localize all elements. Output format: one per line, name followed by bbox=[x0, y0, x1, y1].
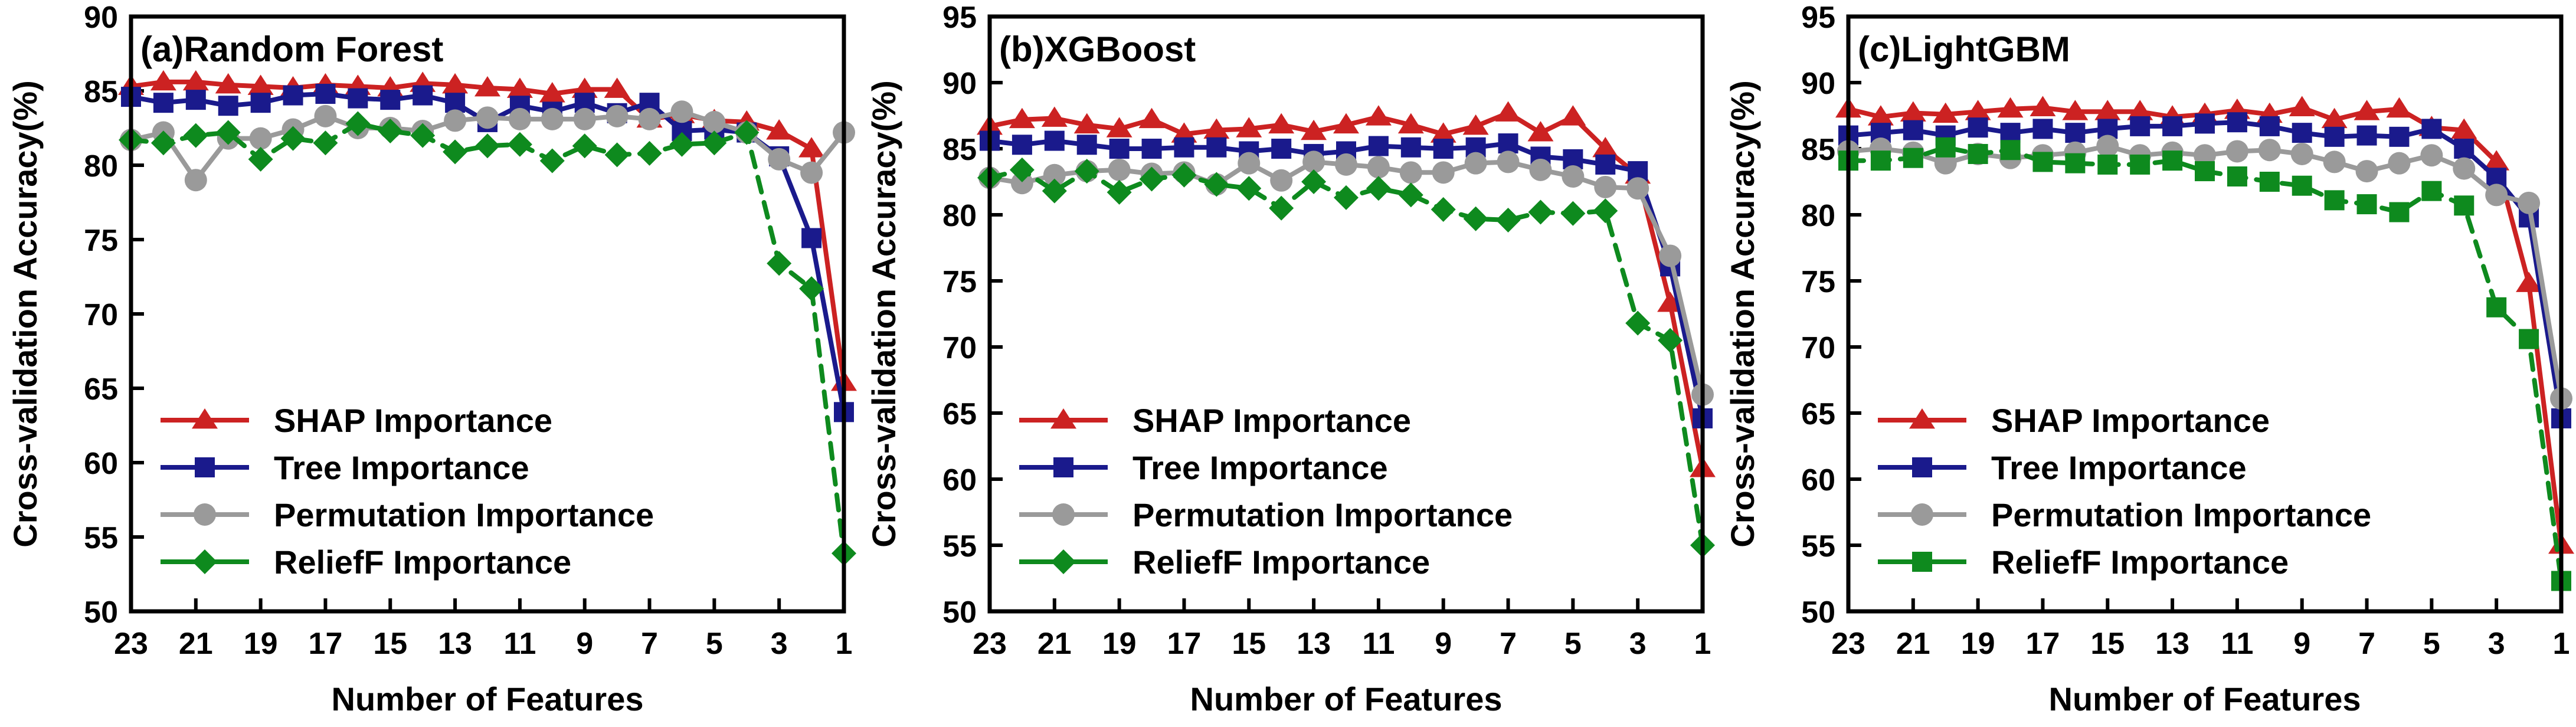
marker-square bbox=[2454, 139, 2474, 159]
x-tick-label: 7 bbox=[1500, 627, 1517, 661]
marker-square bbox=[2389, 127, 2409, 147]
marker-square bbox=[2357, 126, 2377, 146]
marker-circle bbox=[800, 162, 823, 184]
marker-square bbox=[1433, 139, 1454, 159]
marker-square bbox=[2227, 166, 2247, 186]
marker-square bbox=[153, 93, 174, 113]
marker-square bbox=[2130, 155, 2150, 175]
marker-square bbox=[1912, 552, 1932, 572]
marker-circle bbox=[1529, 159, 1552, 181]
marker-circle bbox=[1497, 150, 1520, 173]
marker-square bbox=[1271, 139, 1291, 159]
x-tick-label: 23 bbox=[1831, 627, 1865, 661]
y-tick-label: 50 bbox=[942, 595, 977, 630]
marker-circle bbox=[2291, 143, 2313, 165]
marker-square bbox=[2097, 155, 2117, 175]
y-tick-label: 95 bbox=[942, 1, 977, 35]
marker-circle bbox=[606, 105, 629, 127]
x-tick-label: 13 bbox=[438, 627, 472, 661]
y-tick-label: 70 bbox=[942, 331, 977, 365]
marker-circle bbox=[639, 108, 661, 130]
y-tick-label: 95 bbox=[1801, 1, 1835, 35]
marker-circle bbox=[1432, 161, 1455, 184]
marker-circle bbox=[185, 169, 207, 191]
panel-title: (b)XGBoost bbox=[999, 30, 1196, 69]
marker-circle bbox=[2420, 144, 2443, 166]
x-tick-label: 1 bbox=[2553, 627, 2570, 661]
y-axis-title: Cross-validation Accuracy(%) bbox=[865, 80, 902, 548]
x-tick-label: 19 bbox=[1961, 627, 1995, 661]
chart-panel-a: 5055606570758085902321191715131197531(a)… bbox=[0, 0, 859, 727]
marker-square bbox=[380, 90, 400, 110]
legend-label: Tree Importance bbox=[1991, 449, 2247, 486]
marker-square bbox=[2292, 176, 2312, 196]
y-tick-label: 65 bbox=[84, 372, 118, 407]
marker-circle bbox=[1562, 165, 1584, 188]
marker-square bbox=[2032, 152, 2053, 172]
marker-square bbox=[1142, 139, 1162, 159]
marker-square bbox=[2357, 194, 2377, 214]
x-tick-label: 21 bbox=[1037, 627, 1072, 661]
y-tick-label: 55 bbox=[84, 521, 118, 555]
x-tick-label: 9 bbox=[1435, 627, 1452, 661]
marker-square bbox=[2162, 116, 2182, 136]
marker-square bbox=[2130, 116, 2150, 136]
marker-square bbox=[413, 86, 433, 106]
y-tick-label: 90 bbox=[84, 1, 118, 35]
marker-square bbox=[1053, 457, 1073, 477]
marker-square bbox=[1012, 135, 1032, 155]
y-tick-label: 70 bbox=[84, 298, 118, 332]
marker-circle bbox=[1911, 503, 1933, 526]
marker-square bbox=[1968, 117, 1988, 137]
y-tick-label: 85 bbox=[942, 133, 977, 167]
legend-label: Permutation Importance bbox=[1991, 496, 2371, 533]
x-tick-label: 19 bbox=[244, 627, 278, 661]
x-tick-label: 11 bbox=[1362, 627, 1395, 661]
x-tick-label: 11 bbox=[503, 627, 536, 661]
marker-square bbox=[1871, 150, 1891, 171]
x-tick-label: 17 bbox=[1167, 627, 1202, 661]
legend-label: Permutation Importance bbox=[274, 496, 654, 533]
panel-title: (a)Random Forest bbox=[140, 30, 443, 69]
marker-circle bbox=[2226, 140, 2248, 162]
marker-square bbox=[2389, 202, 2409, 222]
marker-circle bbox=[250, 127, 272, 150]
marker-circle bbox=[2258, 139, 2281, 161]
marker-square bbox=[1903, 120, 1923, 140]
marker-circle bbox=[1270, 169, 1292, 192]
marker-square bbox=[1498, 133, 1518, 153]
marker-circle bbox=[1659, 244, 1681, 267]
marker-square bbox=[2421, 181, 2441, 201]
y-tick-label: 80 bbox=[1801, 199, 1835, 233]
marker-circle bbox=[2485, 184, 2508, 206]
y-tick-label: 80 bbox=[84, 149, 118, 184]
marker-square bbox=[2195, 161, 2215, 181]
legend-label: ReliefF Importance bbox=[274, 543, 571, 581]
marker-circle bbox=[1626, 177, 1649, 199]
x-axis-title: Number of Features bbox=[1190, 680, 1503, 718]
y-tick-label: 60 bbox=[84, 447, 118, 481]
marker-square bbox=[2065, 123, 2085, 143]
y-tick-label: 50 bbox=[1801, 595, 1835, 630]
y-tick-label: 65 bbox=[942, 397, 977, 431]
marker-square bbox=[1401, 137, 1421, 158]
y-tick-label: 90 bbox=[942, 67, 977, 101]
marker-square bbox=[1903, 148, 1923, 168]
marker-square bbox=[2065, 153, 2085, 173]
marker-square bbox=[283, 86, 303, 106]
panel-title: (c)LightGBM bbox=[1858, 30, 2070, 69]
marker-square bbox=[2325, 127, 2345, 147]
y-tick-label: 75 bbox=[84, 224, 118, 258]
marker-circle bbox=[1335, 153, 1357, 176]
marker-circle bbox=[194, 503, 216, 526]
x-tick-label: 15 bbox=[373, 627, 407, 661]
marker-square bbox=[251, 93, 271, 113]
x-tick-label: 3 bbox=[1629, 627, 1647, 661]
x-tick-label: 9 bbox=[2293, 627, 2310, 661]
x-tick-label: 7 bbox=[641, 627, 658, 661]
y-tick-label: 85 bbox=[1801, 133, 1835, 167]
y-tick-label: 75 bbox=[942, 265, 977, 299]
legend-label: ReliefF Importance bbox=[1991, 543, 2289, 581]
marker-square bbox=[2032, 119, 2053, 139]
x-tick-label: 17 bbox=[2026, 627, 2060, 661]
marker-square bbox=[1936, 137, 1956, 158]
marker-circle bbox=[703, 111, 725, 133]
marker-circle bbox=[2388, 152, 2410, 175]
legend-label: SHAP Importance bbox=[1991, 402, 2270, 439]
plot-svg: 505560657075808590952321191715131197531(… bbox=[859, 0, 1717, 727]
marker-square bbox=[315, 84, 335, 104]
x-tick-label: 5 bbox=[706, 627, 723, 661]
y-axis-title: Cross-validation Accuracy(%) bbox=[6, 80, 44, 548]
x-tick-label: 3 bbox=[2488, 627, 2505, 661]
plot-svg: 5055606570758085902321191715131197531(a)… bbox=[0, 0, 859, 727]
y-tick-label: 55 bbox=[1801, 529, 1835, 564]
x-tick-label: 3 bbox=[771, 627, 788, 661]
marker-square bbox=[801, 228, 821, 248]
y-tick-label: 65 bbox=[1801, 397, 1835, 431]
x-axis-title: Number of Features bbox=[2049, 680, 2361, 718]
marker-circle bbox=[2518, 192, 2540, 214]
marker-circle bbox=[1400, 161, 1422, 184]
y-axis-title: Cross-validation Accuracy(%) bbox=[1724, 80, 1761, 548]
legend-label: Tree Importance bbox=[1132, 449, 1388, 486]
marker-circle bbox=[509, 108, 531, 130]
marker-square bbox=[2162, 150, 2182, 171]
chart-panel-b: 505560657075808590952321191715131197531(… bbox=[859, 0, 1717, 727]
marker-circle bbox=[574, 108, 596, 130]
marker-circle bbox=[314, 105, 336, 127]
marker-square bbox=[1174, 137, 1194, 158]
x-tick-label: 9 bbox=[576, 627, 593, 661]
y-tick-label: 60 bbox=[942, 463, 977, 497]
marker-circle bbox=[444, 109, 466, 132]
marker-circle bbox=[541, 108, 564, 130]
x-tick-label: 19 bbox=[1102, 627, 1137, 661]
marker-circle bbox=[2096, 135, 2119, 158]
legend-label: SHAP Importance bbox=[1132, 402, 1411, 439]
x-tick-label: 23 bbox=[973, 627, 1007, 661]
chart-panel-c: 505560657075808590952321191715131197531(… bbox=[1717, 0, 2576, 727]
marker-square bbox=[2260, 172, 2280, 192]
marker-circle bbox=[2356, 160, 2378, 182]
marker-square bbox=[186, 90, 206, 110]
marker-circle bbox=[1594, 176, 1616, 198]
x-tick-label: 5 bbox=[2423, 627, 2440, 661]
marker-circle bbox=[1367, 156, 1390, 178]
x-tick-label: 7 bbox=[2358, 627, 2375, 661]
marker-circle bbox=[1052, 503, 1075, 526]
marker-square bbox=[2486, 297, 2506, 317]
x-tick-label: 21 bbox=[1896, 627, 1930, 661]
y-tick-label: 75 bbox=[1801, 265, 1835, 299]
x-tick-label: 23 bbox=[114, 627, 148, 661]
x-tick-label: 17 bbox=[309, 627, 343, 661]
x-tick-label: 15 bbox=[1232, 627, 1266, 661]
x-tick-label: 5 bbox=[1564, 627, 1582, 661]
plot-svg: 505560657075808590952321191715131197531(… bbox=[1717, 0, 2576, 727]
marker-square bbox=[2227, 112, 2247, 132]
y-tick-label: 50 bbox=[84, 595, 118, 630]
marker-square bbox=[1968, 144, 1988, 164]
marker-circle bbox=[1108, 159, 1131, 181]
x-tick-label: 1 bbox=[1694, 627, 1711, 661]
marker-square bbox=[2260, 116, 2280, 136]
x-tick-label: 15 bbox=[2090, 627, 2125, 661]
marker-square bbox=[1109, 139, 1130, 159]
marker-square bbox=[2195, 113, 2215, 133]
marker-square bbox=[348, 89, 368, 109]
marker-square bbox=[1077, 135, 1097, 155]
y-tick-label: 60 bbox=[1801, 463, 1835, 497]
x-tick-label: 1 bbox=[836, 627, 853, 661]
marker-circle bbox=[476, 106, 499, 129]
x-axis-title: Number of Features bbox=[332, 680, 644, 718]
legend-label: SHAP Importance bbox=[274, 402, 552, 439]
y-tick-label: 80 bbox=[942, 199, 977, 233]
y-tick-label: 85 bbox=[84, 75, 118, 109]
x-tick-label: 11 bbox=[2221, 627, 2253, 661]
marker-square bbox=[2421, 119, 2441, 139]
y-tick-label: 55 bbox=[942, 529, 977, 564]
marker-square bbox=[2454, 195, 2474, 215]
marker-square bbox=[1595, 155, 1615, 175]
marker-square bbox=[1206, 137, 1226, 158]
marker-square bbox=[2325, 190, 2345, 210]
marker-square bbox=[2292, 123, 2312, 143]
marker-square bbox=[2001, 123, 2021, 143]
legend-label: Permutation Importance bbox=[1132, 496, 1513, 533]
marker-circle bbox=[2453, 158, 2475, 180]
marker-circle bbox=[2323, 150, 2346, 173]
marker-square bbox=[195, 457, 215, 477]
figure-root: 5055606570758085902321191715131197531(a)… bbox=[0, 0, 2576, 727]
marker-square bbox=[218, 96, 238, 116]
marker-circle bbox=[1238, 152, 1260, 175]
x-tick-label: 13 bbox=[2155, 627, 2189, 661]
marker-circle bbox=[1465, 152, 1487, 175]
marker-square bbox=[2001, 140, 2021, 160]
marker-square bbox=[1912, 457, 1932, 477]
legend-label: ReliefF Importance bbox=[1132, 543, 1430, 581]
legend-label: Tree Importance bbox=[274, 449, 529, 486]
x-tick-label: 21 bbox=[179, 627, 213, 661]
marker-square bbox=[2519, 329, 2539, 349]
marker-circle bbox=[670, 100, 693, 123]
marker-circle bbox=[768, 148, 790, 171]
x-tick-label: 13 bbox=[1297, 627, 1331, 661]
marker-square bbox=[1045, 131, 1065, 151]
y-tick-label: 70 bbox=[1801, 331, 1835, 365]
y-tick-label: 90 bbox=[1801, 67, 1835, 101]
marker-square bbox=[1369, 136, 1389, 156]
